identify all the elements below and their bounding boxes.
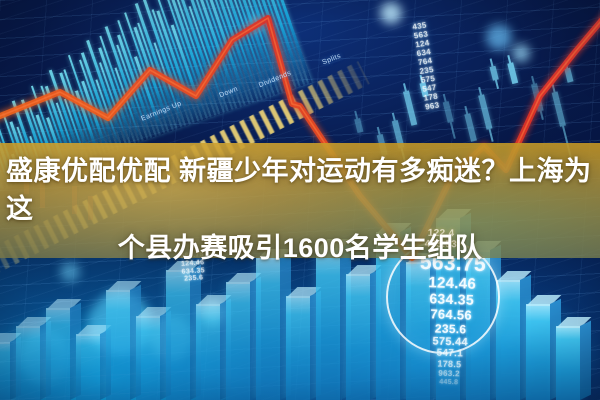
screenshot-root: Earnings Up Down Dividends Splits 435563…: [0, 0, 600, 400]
vignette-overlay: [0, 0, 600, 400]
